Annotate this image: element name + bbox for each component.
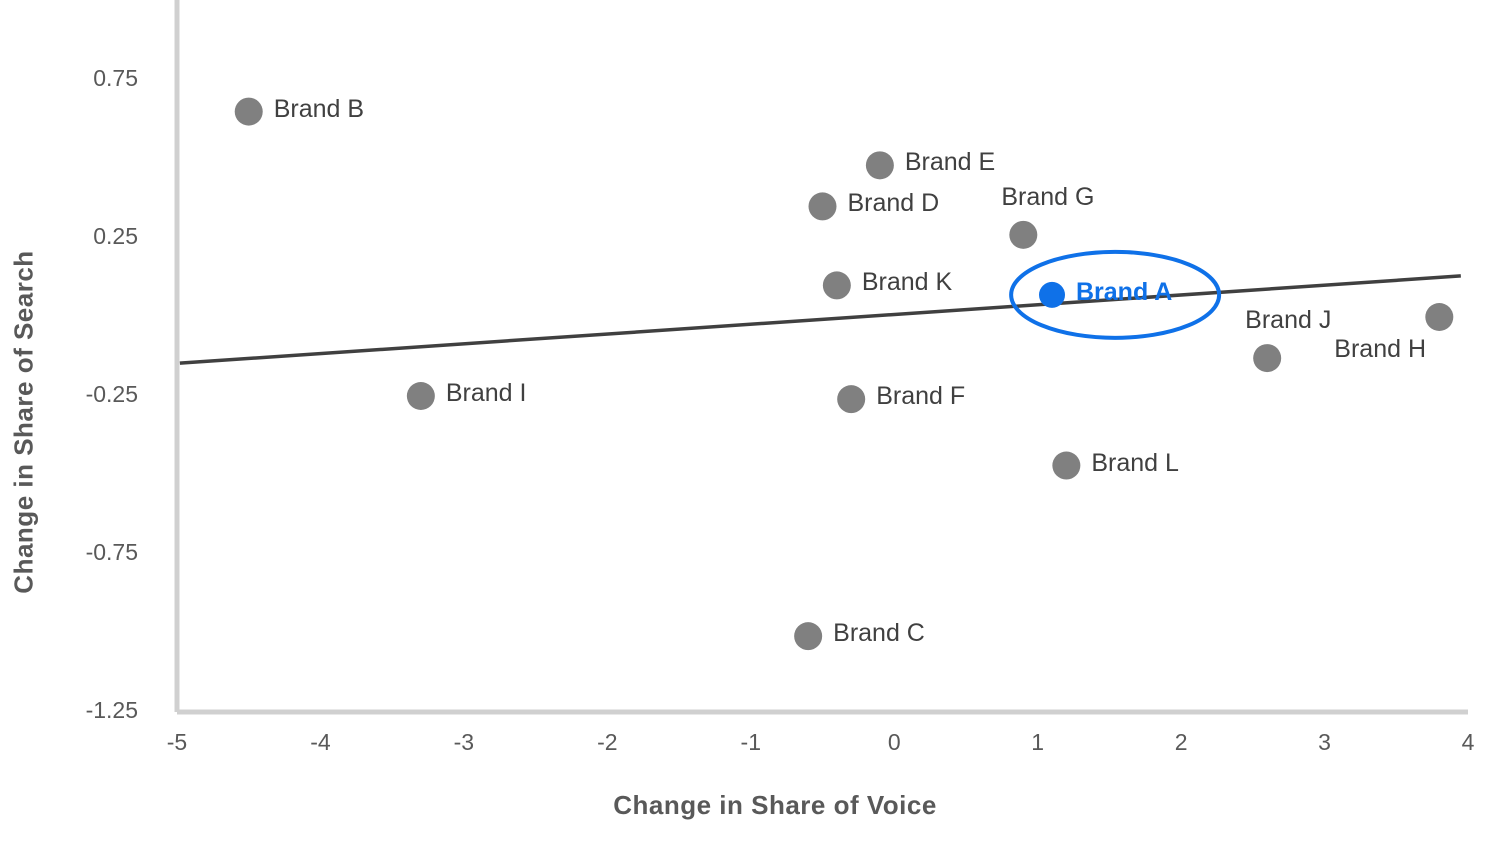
data-point-brand-c[interactable]: [794, 622, 822, 650]
point-label-brand-d: Brand D: [848, 189, 940, 218]
data-points: [235, 98, 1454, 651]
x-tick-label: -3: [424, 729, 504, 756]
x-tick-label: 4: [1428, 729, 1500, 756]
data-point-brand-l[interactable]: [1052, 452, 1080, 480]
data-point-brand-b[interactable]: [235, 98, 263, 126]
point-label-brand-g: Brand G: [1001, 183, 1094, 212]
x-tick-label: 0: [854, 729, 934, 756]
data-point-brand-j[interactable]: [1253, 344, 1281, 372]
x-tick-label: -2: [567, 729, 647, 756]
x-tick-label: -1: [711, 729, 791, 756]
x-tick-label: -5: [137, 729, 217, 756]
point-label-brand-k: Brand K: [862, 268, 952, 297]
x-axis-title: Change in Share of Voice: [0, 790, 1500, 821]
x-tick-label: 3: [1285, 729, 1365, 756]
point-label-brand-j: Brand J: [1245, 306, 1331, 335]
y-axis-title: Change in Share of Search: [0, 0, 48, 844]
point-label-brand-f: Brand F: [876, 382, 965, 411]
data-point-brand-k[interactable]: [823, 271, 851, 299]
x-axis-title-text: Change in Share of Voice: [613, 790, 937, 821]
point-label-brand-b: Brand B: [274, 95, 364, 124]
point-label-brand-c: Brand C: [833, 619, 925, 648]
data-point-brand-h[interactable]: [1425, 303, 1453, 331]
data-point-brand-f[interactable]: [837, 385, 865, 413]
data-point-brand-i[interactable]: [407, 382, 435, 410]
data-point-brand-e[interactable]: [866, 151, 894, 179]
x-tick-label: 1: [998, 729, 1078, 756]
point-label-brand-h: Brand H: [1334, 335, 1426, 364]
x-tick-label: 2: [1141, 729, 1221, 756]
data-point-brand-a[interactable]: [1039, 282, 1065, 308]
plot-area: [0, 0, 1500, 844]
data-point-brand-g[interactable]: [1009, 221, 1037, 249]
point-label-brand-l: Brand L: [1091, 449, 1179, 478]
point-label-brand-i: Brand I: [446, 379, 527, 408]
x-tick-label: -4: [280, 729, 360, 756]
y-axis-title-text: Change in Share of Search: [9, 250, 40, 593]
point-label-brand-e: Brand E: [905, 148, 995, 177]
point-label-brand-a: Brand A: [1076, 278, 1172, 307]
data-point-brand-d[interactable]: [809, 192, 837, 220]
scatter-chart: 0.750.25-0.25-0.75-1.25-5-4-3-2-101234 B…: [0, 0, 1500, 844]
